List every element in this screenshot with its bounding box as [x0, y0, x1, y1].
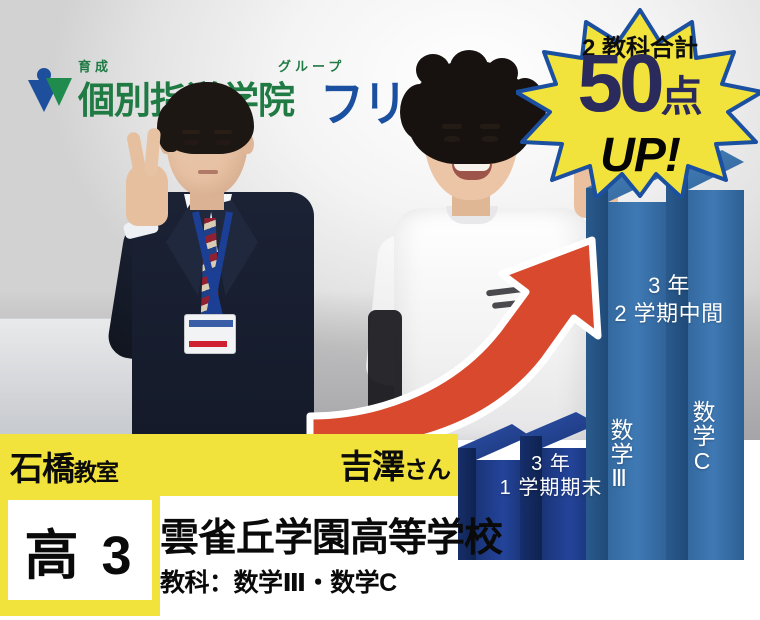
student-surname: 吉澤 — [340, 448, 404, 485]
school-name: 雲雀丘学園高等学校 — [160, 507, 502, 563]
classroom-label: 石橋教室 — [10, 442, 118, 490]
subject-line: 教科：数学Ⅲ・数学C — [160, 563, 397, 599]
bar-subject-label-math3: 数学Ⅲ — [608, 418, 631, 493]
upward-growth-arrow — [330, 170, 630, 420]
bar-tall-mathc — [666, 150, 744, 560]
classroom-suffix: 教室 — [74, 459, 118, 485]
testimonial-poster: 育成 グループ 個別指導学院 フリーステップ — [0, 0, 760, 620]
student-name-label: 吉澤さん — [225, 440, 450, 488]
grade-value: 高 3 — [24, 511, 135, 590]
bar-subject-label-mathc: 数学C — [690, 400, 713, 475]
grade-box: 高 3 — [8, 500, 152, 600]
score-up-starburst — [516, 8, 760, 198]
student-honorific: さん — [404, 457, 450, 484]
classroom-name: 石橋 — [10, 450, 74, 487]
